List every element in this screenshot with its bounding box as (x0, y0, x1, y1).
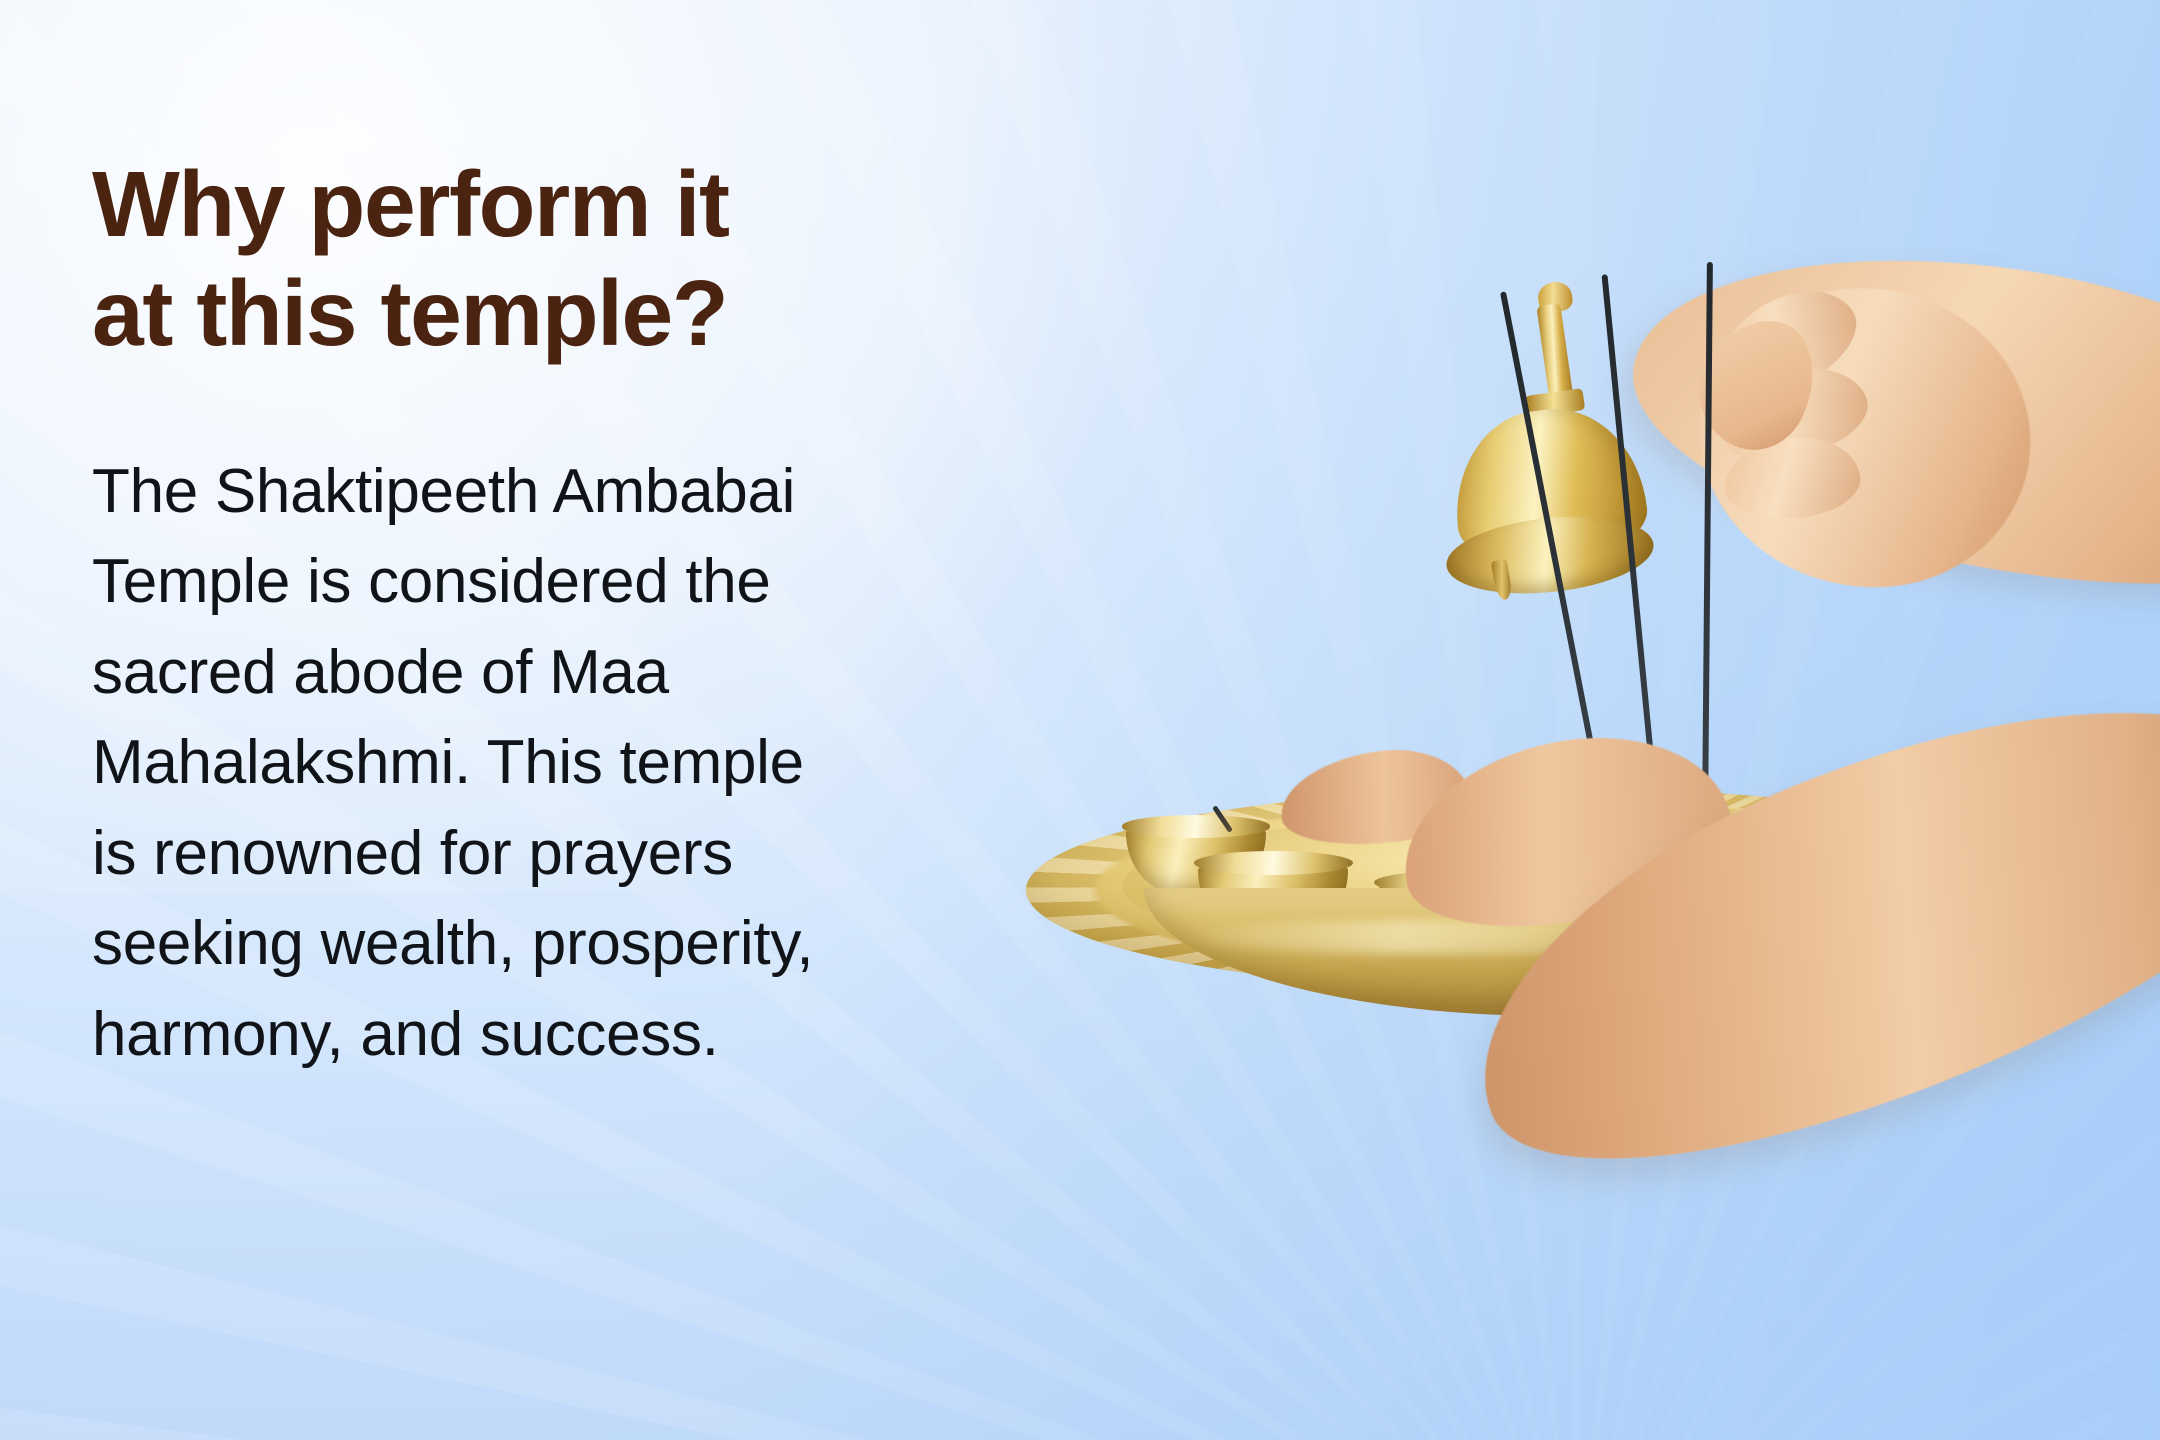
aarti-photo (900, 0, 2160, 1440)
brass-bell (1420, 282, 1710, 612)
